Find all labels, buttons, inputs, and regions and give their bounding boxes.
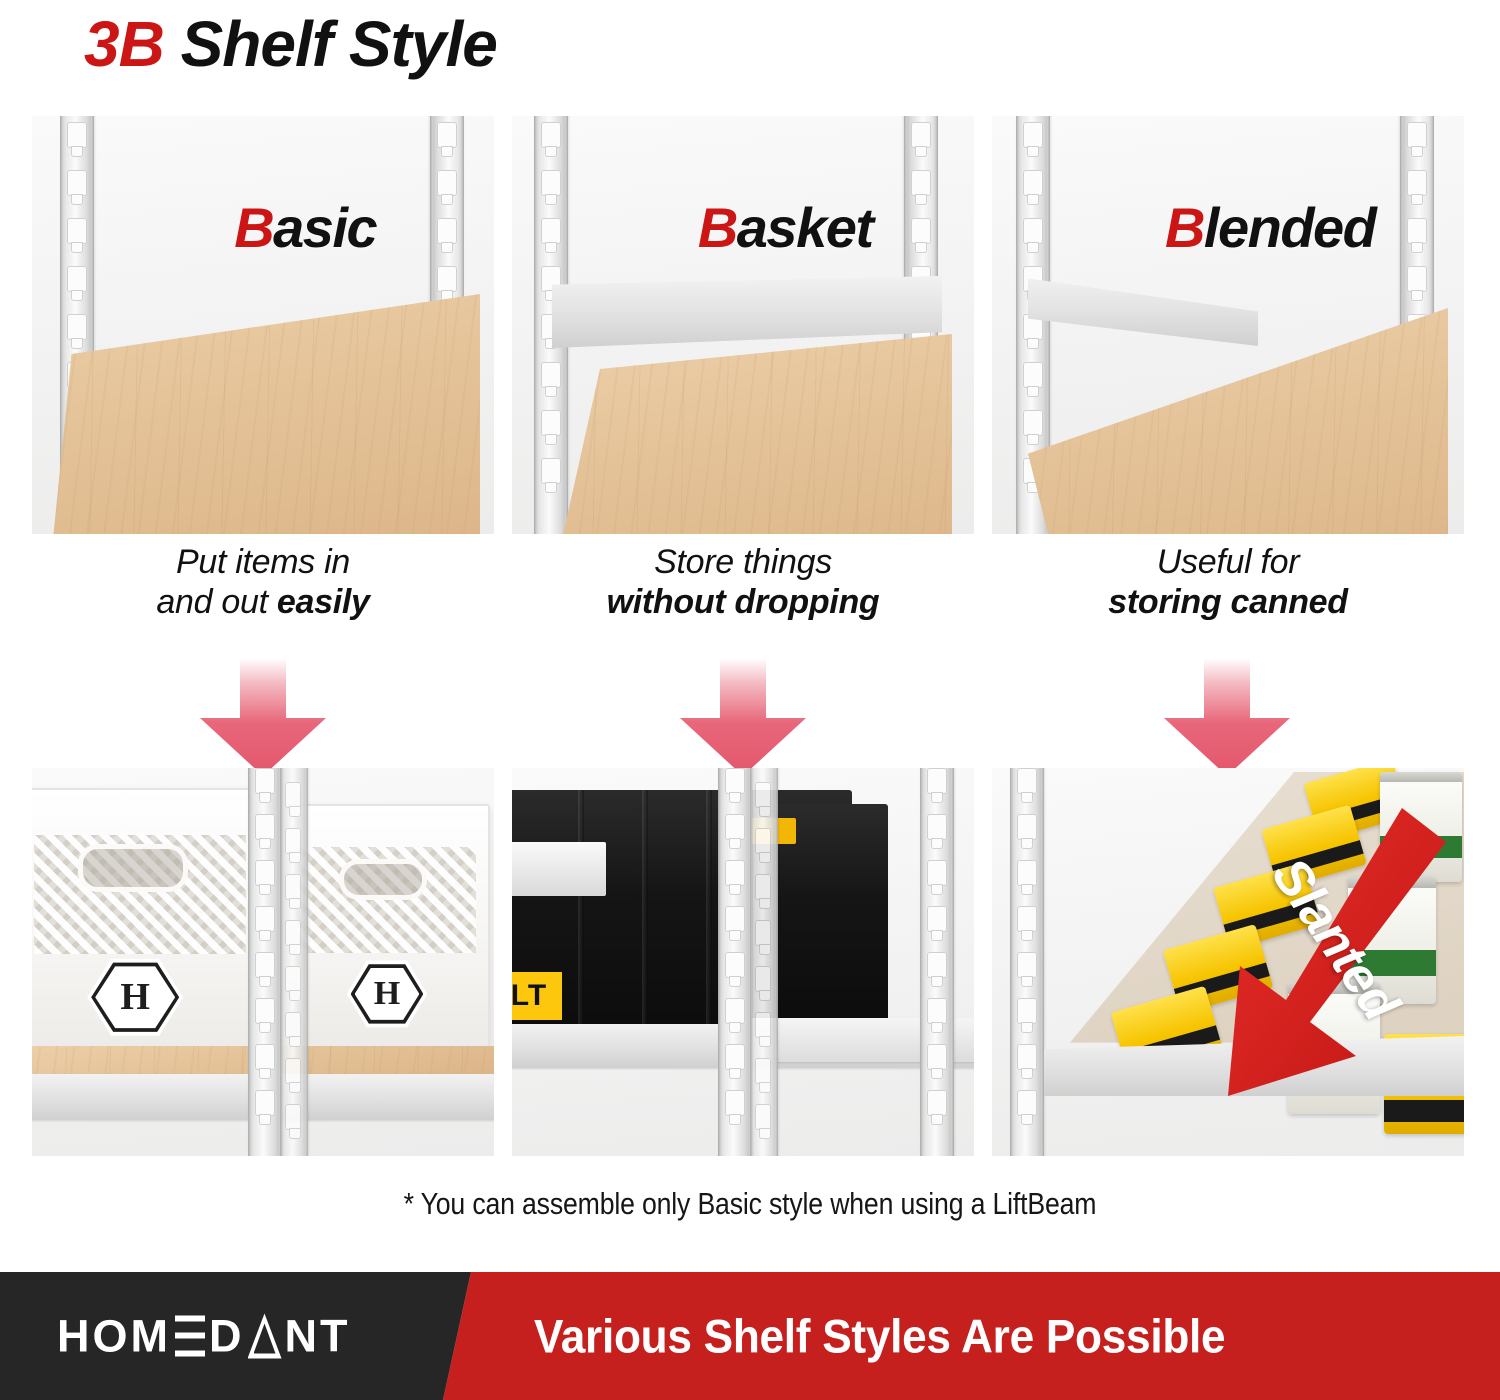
down-arrow-icon-blended (1152, 658, 1302, 776)
brand-a-triangle-icon (248, 1314, 282, 1359)
shelf-post-back (920, 768, 954, 1156)
shelf-post-front-inner (750, 768, 778, 1156)
page-title: 3B Shelf Style (84, 4, 497, 84)
caption-basket: Store things without dropping (512, 542, 974, 622)
panel-basket-usage-photo: LT (512, 768, 974, 1156)
brand-e-glyph-icon (175, 1314, 205, 1359)
panel-label-basket: Basket (512, 144, 974, 312)
panel-basket-photo: Basket (512, 116, 974, 534)
panel-basic-usage-photo: H H (32, 768, 494, 1156)
post-slot-group (255, 768, 275, 1156)
panel-label-blended: Blended (992, 144, 1464, 312)
caption-line-2b: without dropping (607, 583, 880, 621)
caption-line-1: Store things (654, 543, 832, 581)
panel-blended-photo: Blended (992, 116, 1464, 534)
post-slot-group (927, 768, 947, 1156)
crate-handle (78, 844, 188, 892)
milk-crate-front: H (32, 788, 262, 1074)
post-slot-group (725, 768, 745, 1156)
caption-line-2b: easily (277, 583, 370, 621)
caption-line-2a: and out (156, 583, 277, 621)
metal-tool-tray (512, 842, 606, 896)
footer-bar: HOM D NT Various Shelf Styles Are Possib… (0, 1272, 1500, 1400)
post-slot-group (285, 768, 301, 1156)
title-rest: Shelf Style (164, 12, 497, 76)
brand-part-2: D (209, 1314, 245, 1359)
brand-logo: HOM D NT (57, 1314, 351, 1359)
panel-label-basic: Basic (32, 144, 494, 312)
post-slot-group (755, 768, 771, 1156)
crate-logo-badge: H (87, 956, 183, 1038)
milk-crate-rear: H (284, 804, 490, 1062)
caption-line-2b: storing canned (1108, 583, 1348, 621)
caption-basic: Put items in and out easily (32, 542, 494, 622)
brand-part-3: NT (285, 1314, 351, 1359)
panel-blended-usage-photo: Slanted (992, 768, 1464, 1156)
crate-badge-letter: H (347, 958, 428, 1029)
shelf-post-front (248, 768, 282, 1156)
crate-logo-badge: H (347, 958, 428, 1029)
shelf-post-left (1010, 768, 1044, 1156)
footnote-text: * You can assemble only Basic style when… (105, 1186, 1395, 1222)
panel-basic-photo: Basic (32, 116, 494, 534)
title-accent: 3B (84, 12, 164, 76)
footer-slogan: Various Shelf Styles Are Possible (534, 1309, 1225, 1364)
caption-line-1: Useful for (1157, 543, 1300, 581)
infographic-page: 3B Shelf Style (0, 0, 1500, 1400)
crate-handle (339, 859, 428, 900)
down-arrow-icon-basket (668, 658, 818, 776)
caption-blended: Useful for storing canned (992, 542, 1464, 622)
crate-badge-letter: H (87, 956, 183, 1038)
post-slot-group (1017, 768, 1037, 1156)
shelf-post-front (718, 768, 752, 1156)
caption-line-1: Put items in (176, 543, 350, 581)
down-arrow-icon-basic (188, 658, 338, 776)
brand-part-1: HOM (57, 1314, 171, 1359)
toolbox-brand-tag: LT (512, 972, 562, 1020)
shelf-post-front-inner (280, 768, 308, 1156)
